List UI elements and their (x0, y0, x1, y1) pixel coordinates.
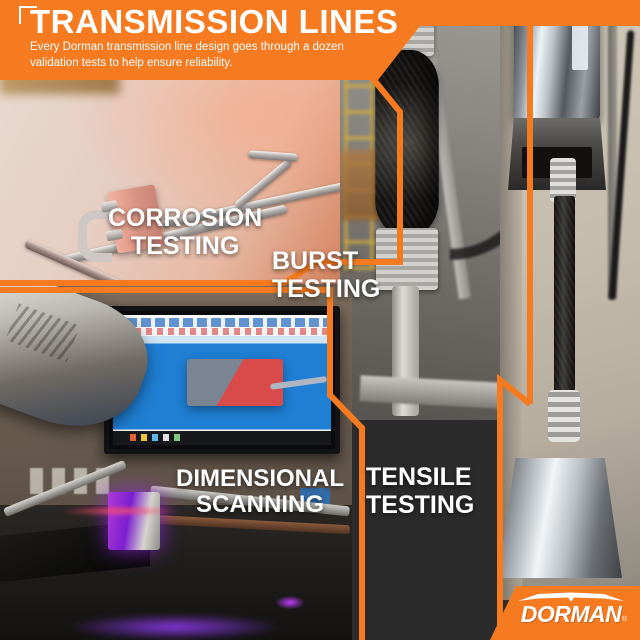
dimensional-laser-floor-glow (70, 614, 280, 640)
dimensional-monitor-screen (113, 315, 331, 445)
tensile-chrome-base (500, 458, 622, 578)
corrosion-tube-tip (248, 150, 298, 161)
label-burst-line1: BURST (272, 247, 358, 275)
cad-taskbar (113, 431, 331, 445)
label-tensile-line1: TENSILE (366, 463, 472, 491)
cad-toolbar-ribbon (113, 318, 331, 327)
tensile-ferrule-lower (548, 390, 580, 442)
burst-crimp-collar-bottom (376, 228, 438, 290)
page-title: TRANSMISSION LINES (30, 5, 398, 38)
tensile-chrome-cylinder (514, 0, 600, 120)
taskbar-icon-4 (163, 434, 169, 441)
dorman-logo[interactable]: DORMAN ® (516, 592, 626, 626)
label-corrosion-testing: CORROSION TESTING (108, 205, 262, 260)
cad-model-render (187, 359, 283, 406)
label-corrosion-line2: TESTING (108, 233, 262, 261)
label-dimensional-line2: SCANNING (176, 492, 344, 518)
label-burst-testing: BURST TESTING (272, 248, 380, 303)
scanner-vent-grille (6, 303, 80, 362)
label-dimensional-scanning: DIMENSIONAL SCANNING (176, 466, 344, 519)
dorman-registered-mark: ® (622, 616, 627, 623)
page-subtitle: Every Dorman transmission line design go… (30, 40, 360, 71)
tensile-hose-specimen (554, 196, 575, 396)
dimensional-laser-line (60, 506, 180, 516)
taskbar-icon-1 (130, 434, 136, 441)
tensile-label-tag (572, 18, 588, 70)
taskbar-icon-5 (174, 434, 180, 441)
taskbar-icon-3 (152, 434, 158, 441)
label-dimensional-line1: DIMENSIONAL (176, 465, 344, 492)
label-tensile-line2: TESTING (366, 492, 474, 520)
panel-tensile-photo (500, 0, 640, 600)
taskbar-icon-2 (141, 434, 147, 441)
label-burst-line2: TESTING (272, 276, 380, 304)
dimensional-scanned-part (108, 492, 160, 550)
label-tensile-testing: TENSILE TESTING (366, 464, 474, 519)
dimensional-laser-spot (276, 596, 304, 609)
infographic-canvas: CORROSION TESTING BURST TESTING DIMENSIO… (0, 0, 640, 640)
cad-toolbar-ribbon-secondary (113, 328, 331, 335)
panel-dimensional-photo (0, 284, 352, 640)
burst-rubber-hose (375, 50, 439, 236)
label-corrosion-line1: CORROSION (108, 204, 262, 232)
dorman-wordmark: DORMAN (516, 601, 626, 628)
